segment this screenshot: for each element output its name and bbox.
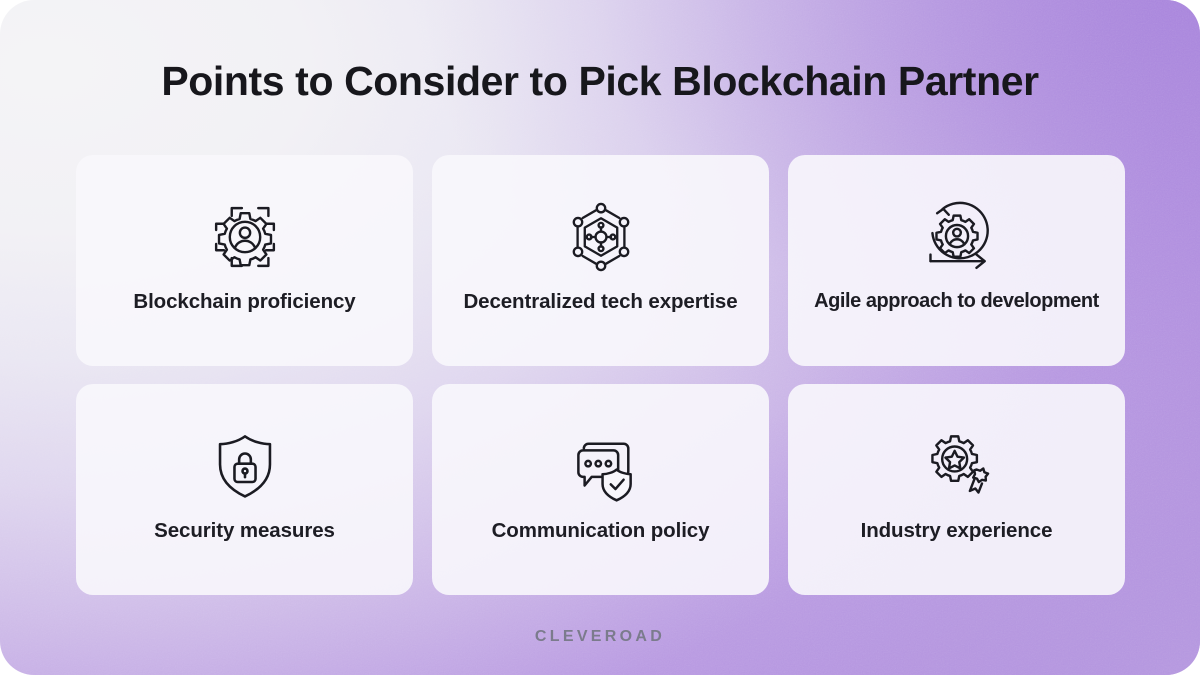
card-label: Decentralized tech expertise xyxy=(432,290,769,314)
gear-star-award-icon xyxy=(918,427,996,505)
card-blockchain-proficiency[interactable]: Blockchain proficiency xyxy=(76,155,413,366)
shield-lock-icon xyxy=(206,427,284,505)
hexagon-network-icon xyxy=(562,198,640,276)
card-label: Security measures xyxy=(76,519,413,543)
card-security-measures[interactable]: Security measures xyxy=(76,384,413,595)
page-title: Points to Consider to Pick Blockchain Pa… xyxy=(0,58,1200,105)
chat-bubbles-shield-check-icon xyxy=(562,427,640,505)
card-label: Communication policy xyxy=(432,519,769,543)
card-label: Industry experience xyxy=(788,519,1125,543)
infographic-panel: Points to Consider to Pick Blockchain Pa… xyxy=(0,0,1200,675)
card-agile-approach-to-development[interactable]: Agile approach to development xyxy=(788,155,1125,366)
card-label: Agile approach to development xyxy=(788,290,1125,313)
card-communication-policy[interactable]: Communication policy xyxy=(432,384,769,595)
brand-logo-text: CLEVEROAD xyxy=(0,628,1200,646)
card-label: Blockchain proficiency xyxy=(76,290,413,314)
card-industry-experience[interactable]: Industry experience xyxy=(788,384,1125,595)
gear-person-scan-icon xyxy=(206,198,284,276)
agile-cycle-gear-person-icon xyxy=(918,198,996,276)
card-decentralized-tech-expertise[interactable]: Decentralized tech expertise xyxy=(432,155,769,366)
points-grid: Blockchain proficiency xyxy=(76,155,1125,595)
